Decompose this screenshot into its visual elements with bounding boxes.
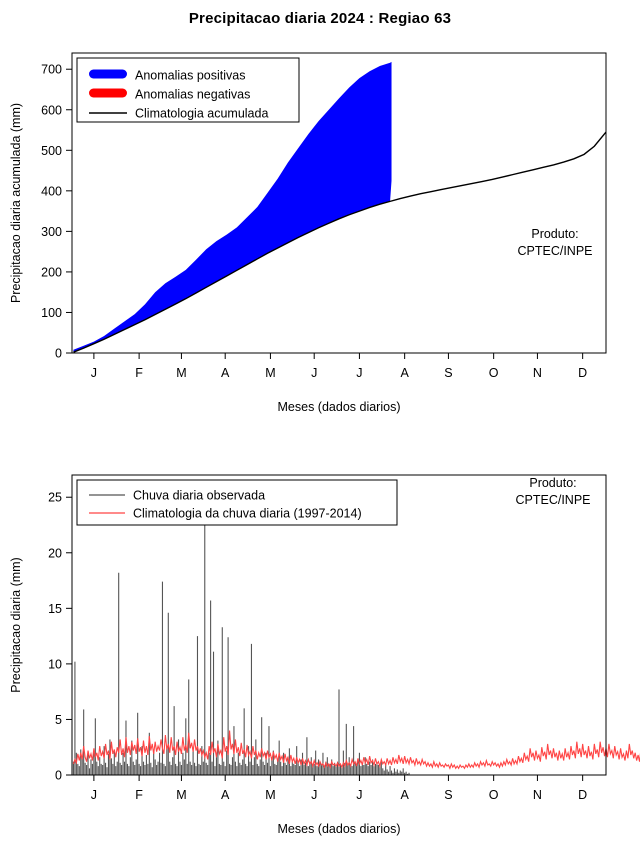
y-tick-label: 400 xyxy=(41,184,62,198)
legend-swatch xyxy=(89,70,127,79)
y-axis-title: Precipitacao diaria (mm) xyxy=(9,557,23,692)
x-axis: JFMAMJJASOND xyxy=(91,353,587,380)
y-tick-label: 5 xyxy=(55,713,62,727)
y-tick-label: 600 xyxy=(41,103,62,117)
y-tick-label: 500 xyxy=(41,144,62,158)
y-tick-label: 300 xyxy=(41,225,62,239)
x-tick-label: M xyxy=(265,788,275,802)
y-tick-label: 10 xyxy=(48,657,62,671)
produto-line-2: CPTEC/INPE xyxy=(517,244,592,258)
produto-annotation: Produto:CPTEC/INPE xyxy=(515,476,590,507)
x-axis-title: Meses (dados diarios) xyxy=(278,822,401,836)
legend-label: Climatologia da chuva diaria (1997-2014) xyxy=(133,507,362,521)
legend: Chuva diaria observadaClimatologia da ch… xyxy=(77,480,397,525)
x-tick-label: M xyxy=(176,366,186,380)
legend-label: Chuva diaria observada xyxy=(133,489,265,503)
x-tick-label: S xyxy=(444,366,452,380)
produto-line-1: Produto: xyxy=(531,227,578,241)
produto-line-2: CPTEC/INPE xyxy=(515,493,590,507)
legend-label: Anomalias negativas xyxy=(135,88,250,102)
legend-label: Anomalias positivas xyxy=(135,69,245,83)
x-tick-label: N xyxy=(533,366,542,380)
x-tick-label: J xyxy=(356,366,362,380)
y-tick-label: 25 xyxy=(48,491,62,505)
y-tick-label: 15 xyxy=(48,602,62,616)
x-tick-label: O xyxy=(489,788,499,802)
x-tick-label: D xyxy=(578,366,587,380)
x-tick-label: J xyxy=(91,788,97,802)
y-tick-label: 0 xyxy=(55,769,62,783)
x-tick-label: J xyxy=(311,788,317,802)
x-tick-label: A xyxy=(221,788,230,802)
accumulated-precipitation-chart: 0100200300400500600700Precipitacao diari… xyxy=(0,38,640,428)
legend: Anomalias positivasAnomalias negativasCl… xyxy=(77,58,299,122)
x-tick-label: F xyxy=(135,366,143,380)
x-tick-label: A xyxy=(400,788,409,802)
observed-daily-bars xyxy=(73,514,409,775)
y-tick-label: 200 xyxy=(41,265,62,279)
x-tick-label: M xyxy=(176,788,186,802)
x-tick-label: J xyxy=(356,788,362,802)
x-tick-label: A xyxy=(400,366,409,380)
x-tick-label: O xyxy=(489,366,499,380)
y-tick-label: 700 xyxy=(41,63,62,77)
y-tick-label: 0 xyxy=(55,347,62,361)
x-tick-label: J xyxy=(91,366,97,380)
y-axis: 0100200300400500600700 xyxy=(41,63,72,361)
legend-swatch xyxy=(89,89,127,98)
precipitation-report: Precipitacao diaria 2024 : Regiao 63 010… xyxy=(0,0,640,850)
legend-label: Climatologia acumulada xyxy=(135,107,268,121)
x-tick-label: M xyxy=(265,366,275,380)
x-tick-label: F xyxy=(135,788,143,802)
x-tick-label: A xyxy=(221,366,230,380)
daily-chart-svg: 0510152025Precipitacao diaria (mm)JFMAMJ… xyxy=(0,460,640,850)
page-title: Precipitacao diaria 2024 : Regiao 63 xyxy=(0,10,640,27)
x-axis: JFMAMJJASOND xyxy=(91,775,587,802)
accumulated-chart-svg: 0100200300400500600700Precipitacao diari… xyxy=(0,38,640,428)
x-tick-label: J xyxy=(311,366,317,380)
y-axis: 0510152025 xyxy=(48,491,72,783)
daily-precipitation-chart: 0510152025Precipitacao diaria (mm)JFMAMJ… xyxy=(0,460,640,850)
x-tick-label: S xyxy=(444,788,452,802)
y-tick-label: 100 xyxy=(41,306,62,320)
x-tick-label: N xyxy=(533,788,542,802)
produto-line-1: Produto: xyxy=(529,476,576,490)
y-tick-label: 20 xyxy=(48,546,62,560)
x-tick-label: D xyxy=(578,788,587,802)
produto-annotation: Produto:CPTEC/INPE xyxy=(517,227,592,258)
x-axis-title: Meses (dados diarios) xyxy=(278,400,401,414)
y-axis-title: Precipitacao diaria acumulada (mm) xyxy=(9,103,23,303)
